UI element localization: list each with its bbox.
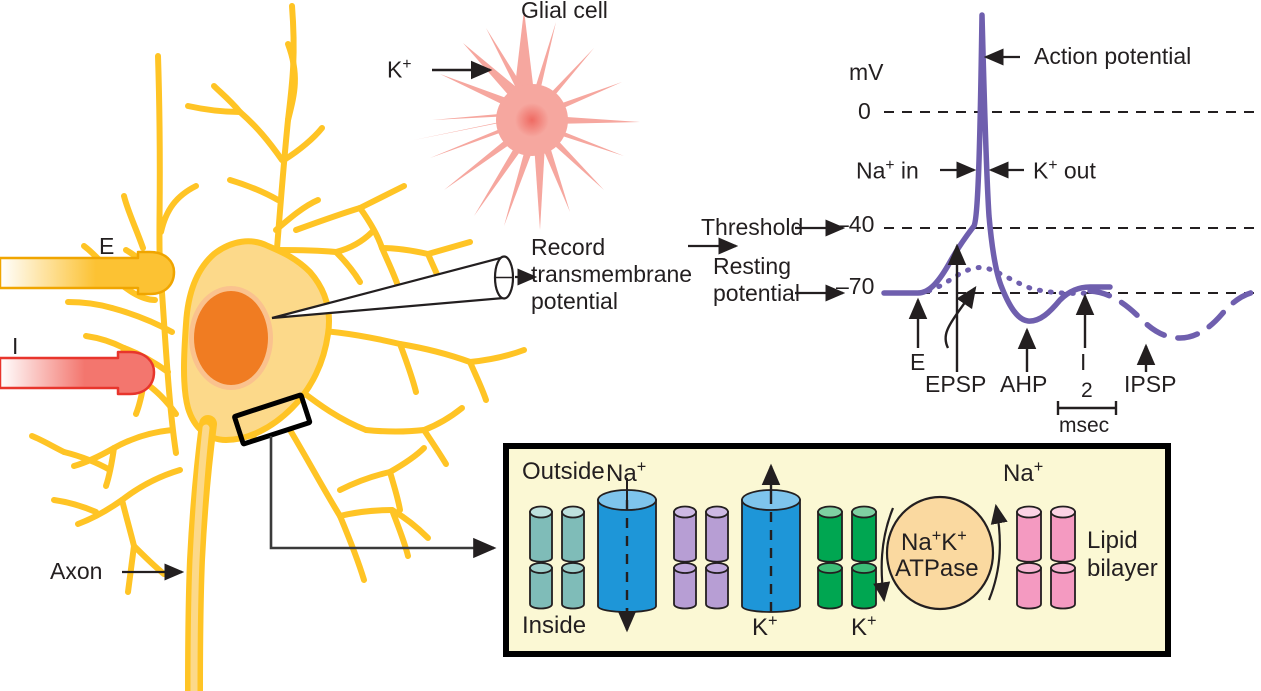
- glial-cell-label: Glial cell: [521, 0, 608, 23]
- atpase-na-text: Na: [901, 529, 932, 556]
- lipid-bilayer-label-line1: Lipid: [1087, 528, 1138, 554]
- inset-na-top-text: Na: [606, 460, 637, 487]
- axon-label: Axon: [50, 559, 102, 584]
- inset-na-top-label: Na+: [606, 459, 646, 487]
- inset-k-pump-text: K: [851, 614, 867, 641]
- inset-k-bottom-text: K: [752, 614, 768, 641]
- glial-cell: [414, 10, 640, 230]
- excitatory-label: E: [99, 234, 114, 259]
- action-potential-label: Action potential: [1034, 44, 1191, 69]
- k-out-label: K+ out: [1033, 157, 1096, 184]
- inset-k-bottom-charge: +: [768, 612, 778, 630]
- resting-label-line2: potential: [713, 281, 800, 306]
- k-out-text: K: [1033, 158, 1048, 184]
- na-in-label: Na+ in: [856, 157, 919, 184]
- na-in-charge: +: [885, 157, 894, 174]
- scale-bar: [1058, 401, 1116, 415]
- resting-label-line1: Resting: [713, 254, 791, 279]
- inset-na-pump-charge: +: [1034, 458, 1044, 476]
- nucleus: [189, 286, 273, 390]
- scale-bar-value: 2: [1081, 379, 1093, 402]
- k-out-tail: out: [1057, 158, 1095, 184]
- na-in-tail: in: [895, 158, 919, 184]
- scale-bar-unit: msec: [1059, 414, 1109, 437]
- record-label-line1: Record: [531, 235, 605, 260]
- inhibitory-electrode: [0, 352, 154, 394]
- atpase-k-text: K: [941, 529, 957, 556]
- inset-k-bottom-label: K+: [752, 613, 778, 641]
- inset-k-pump-label: K+: [851, 613, 877, 641]
- e-stimulus-label: E: [910, 350, 925, 375]
- ytick-0: 0: [858, 99, 871, 124]
- mv-axis-label: mV: [849, 60, 884, 85]
- i-stimulus-label: I: [1080, 350, 1086, 375]
- inhibitory-label: I: [12, 334, 18, 359]
- inset-inside-label: Inside: [522, 613, 586, 639]
- na-in-text: Na: [856, 158, 885, 184]
- glial-k-text: K: [387, 57, 402, 83]
- ytick-minus40: –40: [836, 212, 874, 237]
- inset-na-pump-text: Na: [1003, 460, 1034, 487]
- lipid-bilayer-label-line2: bilayer: [1087, 556, 1158, 582]
- trace-ipsp: [1090, 291, 1261, 338]
- record-label-line3: potential: [531, 289, 618, 314]
- diagram-svg: [0, 0, 1261, 691]
- record-label-line2: transmembrane: [531, 262, 692, 287]
- atpase-k-charge: +: [957, 527, 967, 545]
- threshold-label: Threshold: [701, 215, 803, 240]
- channel-na-blue: [598, 478, 656, 630]
- excitatory-electrode: [0, 252, 174, 294]
- ytick-minus70: –70: [836, 274, 874, 299]
- inset-k-pump-charge: +: [867, 612, 877, 630]
- glial-k-label: K+: [387, 56, 411, 83]
- inset-outside-label: Outside: [522, 459, 605, 485]
- epsp-arrow-curved: [946, 288, 975, 348]
- glial-k-charge: +: [402, 56, 411, 73]
- atpase-label-line2: ATPase: [895, 556, 979, 582]
- figure-canvas: Glial cell K+ E I Axon Record transmembr…: [0, 0, 1261, 691]
- epsp-label: EPSP: [925, 372, 986, 397]
- axon: [194, 424, 208, 691]
- inset-na-pump-label: Na+: [1003, 459, 1043, 487]
- inset-na-top-charge: +: [637, 458, 647, 476]
- atpase-na-charge: +: [932, 527, 942, 545]
- ahp-label: AHP: [1000, 372, 1047, 397]
- ipsp-label: IPSP: [1124, 372, 1176, 397]
- atpase-label-line1: Na+K+: [901, 528, 967, 556]
